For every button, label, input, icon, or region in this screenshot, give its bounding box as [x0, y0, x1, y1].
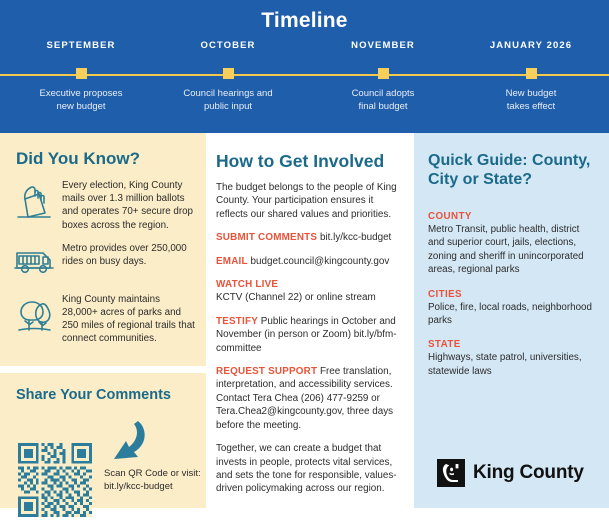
- share-body: Scan QR Code or visit: bit.ly/kcc-budget: [0, 412, 206, 508]
- fact-item-parks: King County maintains 28,000+ acres of p…: [0, 293, 206, 356]
- involved-keyword: EMAIL: [216, 256, 248, 267]
- timeline-desc-line2: takes effect: [507, 101, 555, 112]
- bus-icon: [12, 242, 58, 283]
- timeline-banner: Timeline SEPTEMBER Executive proposes ne…: [0, 0, 609, 133]
- quick-guide-heading: Quick Guide: County, City or State?: [414, 133, 609, 199]
- fact-text: Metro provides over 250,000 rides on bus…: [58, 242, 196, 268]
- fact-text: Every election, King County mails over 1…: [58, 179, 196, 232]
- ballot-box-icon: [12, 179, 58, 230]
- timeline-desc: New budget takes effect: [456, 88, 606, 113]
- fact-item-transit: Metro provides over 250,000 rides on bus…: [0, 242, 206, 293]
- quick-guide-text-state: Highways, state patrol, universities, st…: [428, 351, 595, 378]
- involved-item-watch-live: WATCH LIVE KCTV (Channel 22) or online s…: [216, 278, 402, 305]
- timeline-month-label: OCTOBER: [153, 40, 303, 51]
- timeline-month-label: SEPTEMBER: [6, 40, 156, 51]
- left-column: Did You Know? Every election, King Count…: [0, 133, 206, 508]
- king-county-wordmark: King County: [473, 462, 584, 484]
- timeline-desc-line1: Council adopts: [352, 88, 415, 99]
- timeline-desc: Council adopts final budget: [308, 88, 458, 113]
- how-to-get-involved-column: How to Get Involved The budget belongs t…: [206, 133, 414, 508]
- timeline-desc-line1: Council hearings and: [183, 88, 272, 99]
- king-county-seal-icon: [437, 459, 465, 487]
- involved-keyword: SUBMIT COMMENTS: [216, 232, 317, 243]
- timeline-desc: Council hearings and public input: [153, 88, 303, 113]
- involved-intro: The budget belongs to the people of King…: [216, 181, 402, 221]
- involved-keyword: WATCH LIVE: [216, 279, 278, 290]
- infographic-page: Timeline SEPTEMBER Executive proposes ne…: [0, 0, 609, 508]
- scan-line-1: Scan QR Code or visit:: [104, 468, 201, 479]
- scan-link[interactable]: bit.ly/kcc-budget: [104, 481, 173, 492]
- involved-keyword: REQUEST SUPPORT: [216, 366, 317, 377]
- involved-body-text: KCTV (Channel 22) or online stream: [216, 292, 376, 303]
- quick-guide-text-cities: Police, fire, local roads, neighborhood …: [428, 301, 595, 328]
- did-you-know-panel: Did You Know? Every election, King Count…: [0, 133, 206, 366]
- timeline-desc-line2: final budget: [358, 101, 407, 112]
- share-comments-panel: Share Your Comments: [0, 373, 206, 508]
- quick-guide-label-county: COUNTY: [428, 211, 595, 222]
- quick-guide-text-county: Metro Transit, public health, district a…: [428, 223, 595, 277]
- fact-text: King County maintains 28,000+ acres of p…: [58, 293, 196, 346]
- involved-item-submit-comments: SUBMIT COMMENTS bit.ly/kcc-budget: [216, 231, 402, 244]
- timeline-marker-icon: [223, 68, 234, 79]
- timeline-marker-icon: [76, 68, 87, 79]
- share-comments-heading: Share Your Comments: [0, 373, 206, 412]
- quick-guide-body: COUNTY Metro Transit, public health, dis…: [414, 211, 609, 378]
- timeline-month-label: JANUARY 2026: [456, 40, 606, 51]
- timeline-desc-line1: New budget: [506, 88, 557, 99]
- involved-body-text[interactable]: bit.ly/kcc-budget: [320, 232, 391, 243]
- timeline-milestone-october: OCTOBER Council hearings and public inpu…: [153, 40, 303, 113]
- quick-guide-column: Quick Guide: County, City or State? COUN…: [414, 133, 609, 508]
- fact-item-elections: Every election, King County mails over 1…: [0, 179, 206, 242]
- involved-item-request-support: REQUEST SUPPORT Free translation, interp…: [216, 365, 402, 432]
- involved-item-testify: TESTIFY Public hearings in October and N…: [216, 315, 402, 355]
- how-to-get-involved-heading: How to Get Involved: [206, 133, 414, 181]
- involved-closing: Together, we can create a budget that in…: [216, 442, 402, 496]
- timeline-milestone-september: SEPTEMBER Executive proposes new budget: [6, 40, 156, 113]
- involved-item-email: EMAIL budget.council@kingcounty.gov: [216, 255, 402, 268]
- page-title: Timeline: [0, 9, 609, 33]
- involved-keyword: TESTIFY: [216, 316, 258, 327]
- quick-guide-label-state: STATE: [428, 339, 595, 350]
- timeline-desc: Executive proposes new budget: [6, 88, 156, 113]
- curved-arrow-icon: [100, 418, 158, 466]
- timeline-marker-icon: [526, 68, 537, 79]
- king-county-logo: King County: [437, 459, 584, 487]
- how-to-get-involved-body: The budget belongs to the people of King…: [206, 181, 414, 496]
- timeline-marker-icon: [378, 68, 389, 79]
- timeline-desc-line2: public input: [204, 101, 252, 112]
- scan-instructions: Scan QR Code or visit: bit.ly/kcc-budget: [104, 467, 204, 493]
- quick-guide-label-cities: CITIES: [428, 289, 595, 300]
- involved-body-text[interactable]: budget.council@kingcounty.gov: [250, 256, 389, 267]
- timeline-month-label: NOVEMBER: [308, 40, 458, 51]
- timeline-desc-line2: new budget: [56, 101, 105, 112]
- timeline-desc-line1: Executive proposes: [40, 88, 123, 99]
- timeline-milestone-november: NOVEMBER Council adopts final budget: [308, 40, 458, 113]
- qr-code[interactable]: [18, 443, 92, 517]
- timeline-milestone-january: JANUARY 2026 New budget takes effect: [456, 40, 606, 113]
- trees-icon: [12, 293, 58, 344]
- did-you-know-heading: Did You Know?: [0, 133, 206, 179]
